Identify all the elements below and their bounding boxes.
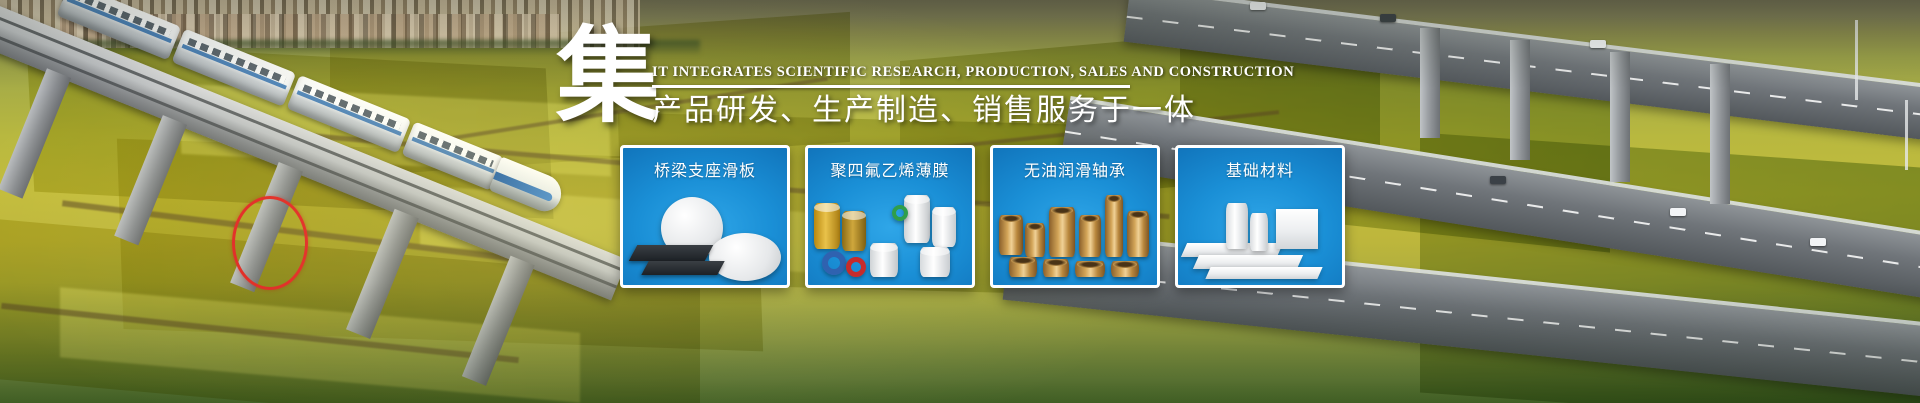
ptfe-rod	[1250, 213, 1268, 251]
headline-divider-rule	[652, 85, 1130, 88]
highway-pier	[1510, 40, 1530, 160]
viaduct-pier	[0, 68, 71, 198]
product-card-image	[1178, 185, 1342, 285]
product-card-title: 聚四氟乙烯薄膜	[808, 157, 972, 181]
product-card-bridge-bearing-slide-plate[interactable]: 桥梁支座滑板	[620, 145, 790, 288]
product-card-image	[808, 185, 972, 285]
film-roll	[904, 195, 930, 243]
film-roll	[842, 211, 866, 251]
vehicle	[1810, 238, 1826, 246]
vehicle	[1380, 14, 1396, 22]
product-card-image	[993, 185, 1157, 285]
ptfe-block	[1276, 209, 1318, 249]
bronze-bushing	[999, 215, 1023, 255]
headline-block: 集 IT INTEGRATES SCIENTIFIC RESEARCH, PRO…	[556, 24, 1156, 134]
viaduct-pier	[462, 256, 535, 386]
headline-chinese-tagline: 产品研发、生产制造、销售服务于一体	[652, 92, 1196, 130]
product-card-title: 基础材料	[1178, 157, 1342, 181]
product-card-list: 桥梁支座滑板 聚四氟乙烯薄膜	[620, 145, 1345, 288]
product-card-oilless-bearing[interactable]: 无油润滑轴承	[990, 145, 1160, 288]
film-roll	[932, 207, 956, 247]
product-card-title: 无油润滑轴承	[993, 157, 1157, 181]
film-ring	[892, 205, 908, 221]
film-ring	[822, 251, 846, 275]
product-card-image	[623, 185, 787, 285]
bronze-bushing	[1075, 261, 1105, 277]
film-roll	[870, 243, 898, 277]
steel-plate	[629, 245, 714, 261]
vehicle	[1670, 208, 1686, 216]
bronze-bushing	[1127, 211, 1149, 257]
viaduct-pier	[114, 115, 187, 245]
bronze-bushing	[1009, 257, 1037, 277]
utility-pole	[1905, 100, 1908, 170]
bronze-bushing	[1105, 195, 1123, 257]
highway-pier	[1420, 28, 1440, 138]
vehicle	[1490, 176, 1506, 184]
highway-pier	[1710, 64, 1730, 204]
vehicle	[1250, 2, 1266, 10]
bronze-bushing	[1079, 215, 1101, 257]
headline-english-tagline: IT INTEGRATES SCIENTIFIC RESEARCH, PRODU…	[652, 64, 1294, 81]
ptfe-disc	[709, 233, 781, 281]
film-roll	[920, 247, 950, 277]
hero-banner: 集 IT INTEGRATES SCIENTIFIC RESEARCH, PRO…	[0, 0, 1920, 403]
ptfe-rod	[1226, 203, 1248, 249]
utility-pole	[1855, 20, 1858, 100]
train-nose-stripe	[493, 171, 553, 202]
red-highlight-ellipse	[232, 196, 308, 290]
film-ring	[846, 257, 866, 277]
viaduct-pier	[346, 209, 419, 339]
film-roll	[814, 203, 840, 249]
product-card-base-material[interactable]: 基础材料	[1175, 145, 1345, 288]
vehicle	[1590, 40, 1606, 48]
bronze-bushing	[1043, 259, 1069, 277]
bronze-bushing	[1049, 207, 1075, 257]
bronze-bushing	[1111, 261, 1139, 277]
highway-pier	[1610, 52, 1630, 182]
ptfe-sheet	[1205, 267, 1322, 279]
headline-big-character: 集	[556, 24, 660, 128]
bronze-bushing	[1025, 223, 1045, 257]
product-card-title: 桥梁支座滑板	[623, 157, 787, 181]
product-card-ptfe-film[interactable]: 聚四氟乙烯薄膜	[805, 145, 975, 288]
steel-plate	[641, 261, 724, 275]
